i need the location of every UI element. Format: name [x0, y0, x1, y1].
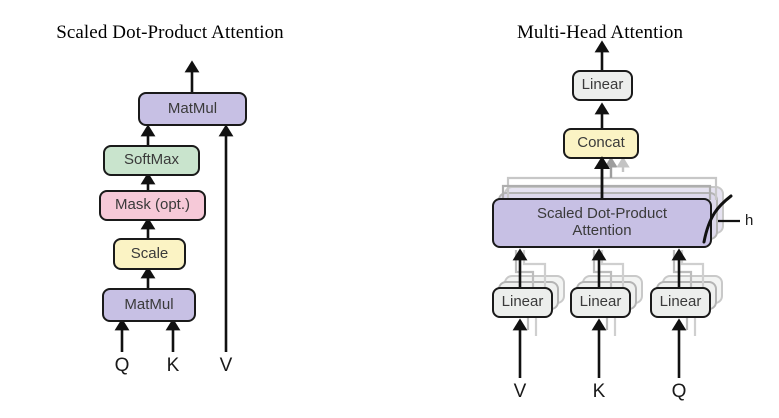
node-concat[interactable]: Concat: [563, 128, 639, 159]
node-label: MatMul: [124, 297, 173, 314]
node-label: Mask (opt.): [115, 197, 190, 214]
node-mask[interactable]: Mask (opt.): [99, 190, 206, 221]
node-matmul-bottom[interactable]: MatMul: [102, 288, 196, 322]
input-label-v-right: V: [500, 381, 540, 403]
input-label-k-left: K: [153, 355, 193, 377]
node-linear-q[interactable]: Linear: [650, 287, 711, 318]
right-panel-title: Multi-Head Attention: [430, 22, 770, 44]
node-scale[interactable]: Scale: [113, 238, 186, 270]
head-count-label: h: [745, 212, 753, 229]
node-label: Scale: [131, 246, 169, 263]
input-label-v-left: V: [206, 355, 246, 377]
node-label: SoftMax: [124, 152, 179, 169]
node-linear-output[interactable]: Linear: [572, 70, 633, 101]
attention-figure: Scaled Dot-Product Attention Multi-Head …: [0, 0, 779, 418]
node-scaled-dot-product-attention[interactable]: Scaled Dot-Product Attention: [492, 198, 712, 248]
node-label: Concat: [577, 135, 625, 152]
node-label-line1: Scaled Dot-Product: [537, 206, 667, 223]
input-label-q-left: Q: [102, 355, 142, 377]
left-panel-title: Scaled Dot-Product Attention: [0, 22, 340, 44]
node-label: Linear: [502, 294, 544, 311]
node-label: Linear: [660, 294, 702, 311]
node-label: Linear: [582, 77, 624, 94]
node-matmul-top[interactable]: MatMul: [138, 92, 247, 126]
input-label-k-right: K: [579, 381, 619, 403]
node-linear-v[interactable]: Linear: [492, 287, 553, 318]
input-label-q-right: Q: [659, 381, 699, 403]
node-label: Linear: [580, 294, 622, 311]
node-softmax[interactable]: SoftMax: [103, 145, 200, 176]
node-linear-k[interactable]: Linear: [570, 287, 631, 318]
node-label: MatMul: [168, 101, 217, 118]
node-label-line2: Attention: [572, 223, 631, 240]
